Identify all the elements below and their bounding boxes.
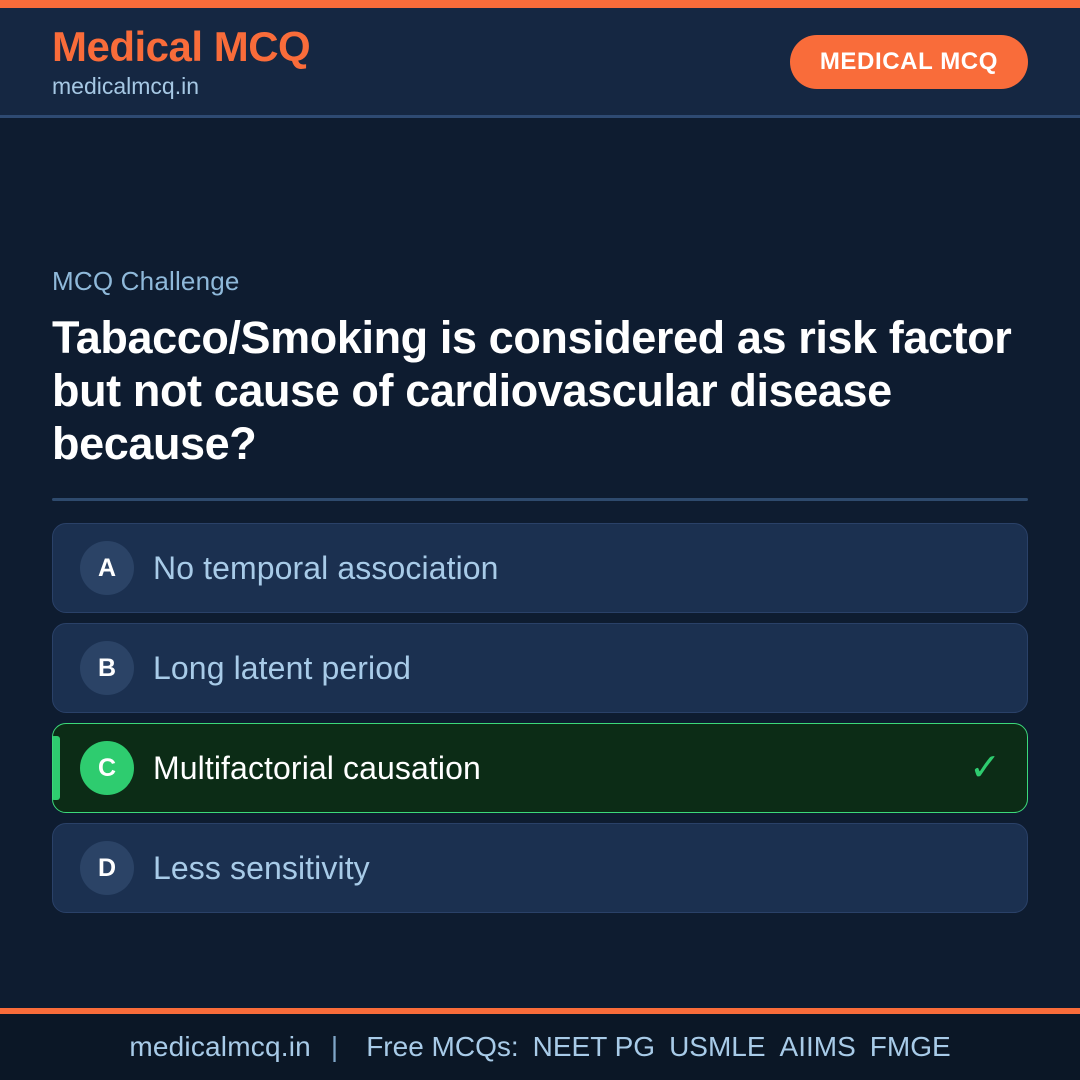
brand: Medical MCQ medicalmcq.in (52, 26, 310, 98)
page-footer: medicalmcq.in | Free MCQs:NEET PGUSMLEAI… (0, 1014, 1080, 1080)
question-block: MCQ Challenge Tabacco/Smoking is conside… (52, 266, 1028, 501)
option-c[interactable]: C Multifactorial causation ✓ (52, 723, 1028, 813)
footer-tag-usmle: USMLE (669, 1031, 765, 1062)
option-letter-badge: C (80, 741, 134, 795)
main-content: MCQ Challenge Tabacco/Smoking is conside… (0, 118, 1080, 1008)
correct-accent-bar (53, 736, 60, 800)
option-d[interactable]: D Less sensitivity ✓ (52, 823, 1028, 913)
footer-tag-fmge: FMGE (870, 1031, 951, 1062)
page-header: Medical MCQ medicalmcq.in MEDICAL MCQ (0, 8, 1080, 118)
brand-subtitle: medicalmcq.in (52, 75, 310, 98)
option-label: Less sensitivity (153, 850, 370, 887)
option-letter-badge: D (80, 841, 134, 895)
footer-tags: Free MCQs:NEET PGUSMLEAIIMSFMGE (358, 1031, 950, 1063)
option-label: Multifactorial causation (153, 750, 481, 787)
footer-separator: | (331, 1031, 338, 1063)
footer-tag-neetpg: NEET PG (533, 1031, 655, 1062)
top-accent-bar (0, 0, 1080, 8)
check-icon: ✓ (969, 749, 1001, 787)
options-list: A No temporal association ✓ B Long laten… (52, 523, 1028, 913)
option-b[interactable]: B Long latent period ✓ (52, 623, 1028, 713)
option-a[interactable]: A No temporal association ✓ (52, 523, 1028, 613)
question-text: Tabacco/Smoking is considered as risk fa… (52, 311, 1028, 470)
question-divider (52, 498, 1028, 501)
footer-wrapper: medicalmcq.in | Free MCQs:NEET PGUSMLEAI… (0, 1008, 1080, 1080)
option-letter-badge: A (80, 541, 134, 595)
question-eyebrow: MCQ Challenge (52, 266, 1028, 297)
option-label: No temporal association (153, 550, 499, 587)
option-label: Long latent period (153, 650, 411, 687)
footer-tag-aiims: AIIMS (780, 1031, 856, 1062)
footer-site: medicalmcq.in (129, 1031, 311, 1063)
brand-title: Medical MCQ (52, 26, 310, 68)
option-letter-badge: B (80, 641, 134, 695)
mcq-card: Medical MCQ medicalmcq.in MEDICAL MCQ MC… (0, 0, 1080, 1080)
header-badge: MEDICAL MCQ (790, 35, 1028, 89)
footer-tags-label: Free MCQs: (366, 1031, 518, 1062)
